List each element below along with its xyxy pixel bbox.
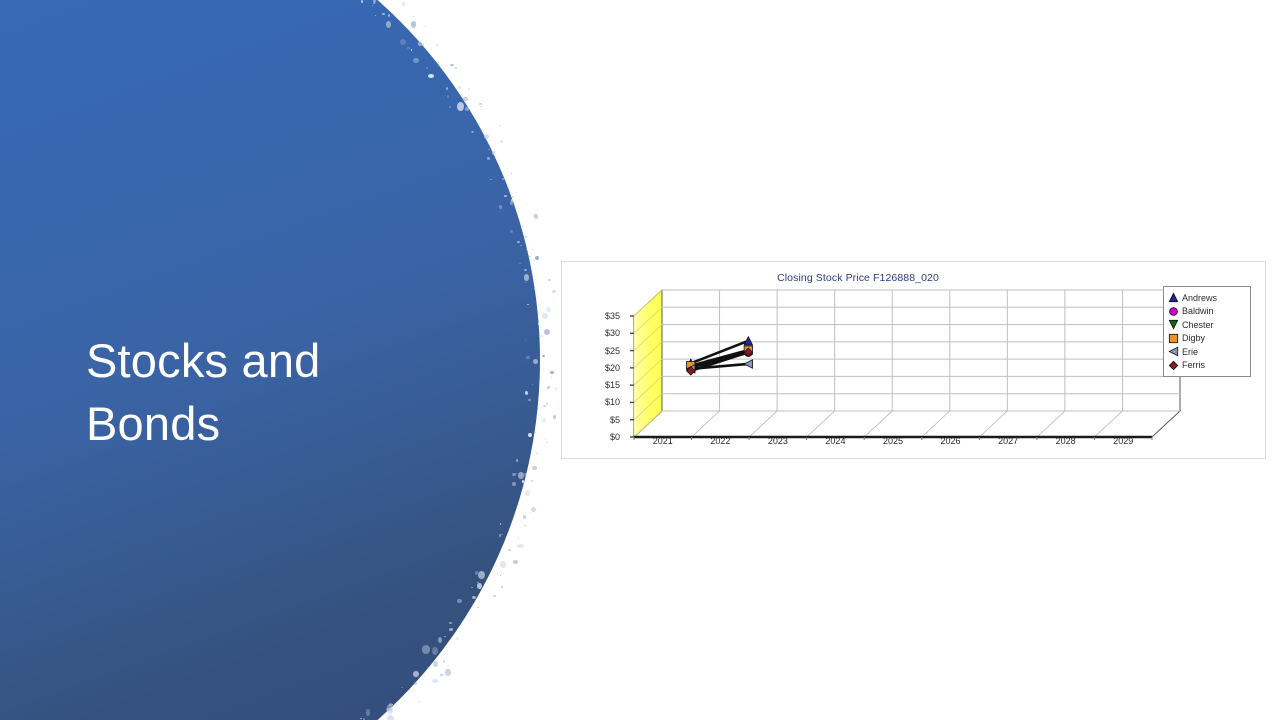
speckle-dot (477, 607, 478, 609)
speckle-dot (479, 103, 482, 105)
page-title: Stocks and Bonds (86, 330, 416, 455)
speckle-dot (529, 246, 531, 248)
x-axis-tick-label: 2021 (653, 436, 673, 446)
legend-item-label: Chester (1182, 320, 1214, 330)
legend-item-label: Ferris (1182, 360, 1205, 370)
y-axis-tick-label: $35 (605, 311, 620, 321)
speckle-dot (457, 599, 462, 603)
legend-item-baldwin[interactable]: Baldwin (1167, 305, 1246, 319)
speckle-dot (465, 107, 469, 111)
speckle-dot (551, 377, 552, 378)
speckle-dot (433, 661, 438, 667)
speckle-dot (500, 140, 503, 143)
speckle-dot (480, 106, 481, 107)
speckle-dot (530, 512, 531, 513)
speckle-dot (544, 438, 546, 440)
speckle-dot (541, 256, 542, 257)
speckle-dot (538, 323, 539, 325)
speckle-dot (455, 67, 457, 69)
speckle-dot (512, 473, 515, 476)
speckle-dot (502, 178, 504, 179)
legend-item-andrews[interactable]: Andrews (1167, 291, 1246, 305)
speckle-dot (484, 134, 489, 139)
x-axis-tick-labels: 202120222023202420252026202720282029 (562, 436, 1154, 452)
x-axis-tick-label: 2029 (1113, 436, 1133, 446)
speckle-dot (492, 151, 495, 155)
x-axis-tick-label: 2022 (710, 436, 730, 446)
speckle-dot (513, 560, 518, 564)
speckle-dot (511, 173, 512, 174)
speckle-dot (424, 676, 426, 678)
speckle-dot (535, 256, 539, 261)
speckle-dot (517, 537, 519, 539)
speckle-dot (504, 195, 507, 197)
speckle-dot (538, 313, 539, 314)
legend-marker-diamond-icon (1167, 359, 1180, 372)
legend-item-erie[interactable]: Erie (1167, 345, 1246, 359)
speckle-dot (519, 263, 521, 264)
speckle-dot (544, 329, 550, 336)
speckle-dot (468, 100, 469, 101)
legend-item-ferris[interactable]: Ferris (1167, 359, 1246, 373)
x-axis-tick-label: 2027 (998, 436, 1018, 446)
speckle-dot (422, 645, 430, 653)
speckle-dot (445, 669, 451, 676)
speckle-dot (540, 335, 543, 337)
legend-marker-square-icon (1167, 332, 1180, 345)
speckle-dot (510, 201, 513, 205)
legend-item-label: Erie (1182, 347, 1198, 357)
speckle-dot (525, 236, 527, 238)
speckle-dot (548, 279, 551, 281)
legend-item-label: Andrews (1182, 293, 1217, 303)
legend-marker-triangle-down-icon (1167, 318, 1180, 331)
speckle-dot (422, 43, 424, 46)
speckle-dot (413, 671, 419, 678)
speckle-dot (443, 660, 446, 663)
speckle-dot (537, 296, 539, 299)
speckle-dot (518, 472, 524, 478)
x-axis-tick-label: 2023 (768, 436, 788, 446)
speckle-dot (389, 703, 391, 705)
chart-object[interactable]: Closing Stock Price F126888_020 $0$5$10$… (561, 261, 1266, 459)
speckle-dot (531, 249, 532, 250)
speckle-dot (546, 307, 551, 313)
speckle-dot (495, 565, 497, 567)
speckle-dot (468, 88, 470, 90)
speckle-dot (536, 452, 538, 454)
speckle-dot (414, 682, 417, 685)
speckle-dot (501, 586, 504, 588)
speckle-dot (423, 25, 426, 27)
speckle-dot (456, 637, 459, 639)
speckle-dot (490, 179, 491, 180)
legend-item-label: Baldwin (1182, 306, 1214, 316)
speckle-dot (524, 525, 525, 526)
y-axis-tick-label: $20 (605, 363, 620, 373)
speckle-dot (512, 482, 516, 487)
speckle-dot (360, 718, 361, 719)
speckle-dot (523, 515, 527, 519)
speckle-dot (520, 245, 522, 246)
legend-item-chester[interactable]: Chester (1167, 318, 1246, 332)
speckle-dot (412, 16, 414, 17)
speckle-dot (543, 405, 545, 407)
speckle-dot (547, 386, 550, 389)
speckle-dot (534, 214, 538, 218)
speckle-dot (525, 340, 526, 342)
speckle-dot (457, 102, 464, 111)
legend-marker-triangle-left-icon (1167, 345, 1180, 358)
speckle-dot (555, 388, 557, 389)
speckle-dot (542, 313, 548, 320)
speckle-dot (497, 573, 498, 574)
speckle-dot (500, 561, 505, 568)
speckle-dot (417, 30, 419, 32)
speckle-dot (411, 21, 417, 28)
speckle-dot (432, 679, 439, 684)
legend-marker-circle-icon (1167, 305, 1180, 318)
plot-area: $0$5$10$15$20$25$30$35 20212022202320242… (562, 262, 1267, 460)
speckle-dot (402, 2, 404, 5)
speckle-dot (515, 192, 516, 193)
speckle-dot (372, 5, 373, 6)
speckle-dot (526, 356, 530, 359)
speckle-dot (512, 196, 514, 198)
speckle-dot (454, 643, 456, 645)
speckle-dot (472, 596, 476, 599)
speckle-dot (449, 628, 453, 631)
speckle-dot (413, 58, 419, 63)
speckle-dot (542, 355, 545, 357)
y-axis-tick-label: $30 (605, 328, 620, 338)
legend-item-digby[interactable]: Digby (1167, 332, 1246, 346)
speckle-dot (499, 125, 501, 127)
speckle-dot (468, 94, 469, 96)
speckle-dot (546, 442, 547, 443)
speckle-dot (516, 473, 518, 474)
y-axis-tick-label: $5 (610, 415, 620, 425)
x-axis-tick-label: 2025 (883, 436, 903, 446)
speckle-dot (536, 467, 537, 468)
speckle-dot (387, 715, 394, 720)
speckle-dot (393, 1, 394, 2)
speckle-dot (386, 21, 391, 28)
x-axis-tick-label: 2026 (941, 436, 961, 446)
speckle-dot (508, 549, 511, 551)
speckle-dot (487, 157, 489, 160)
speckle-dot (529, 256, 531, 258)
speckle-dot (552, 299, 553, 300)
chart-plot-svg (562, 262, 1267, 460)
speckle-dot (539, 456, 540, 457)
legend-item-label: Digby (1182, 333, 1205, 343)
legend-marker-triangle-up-icon (1167, 291, 1180, 304)
speckle-dot (440, 674, 443, 676)
speckle-dot (552, 290, 556, 293)
y-axis-tick-label: $10 (605, 397, 620, 407)
speckle-dot (450, 64, 453, 66)
speckle-dot (478, 571, 485, 579)
speckle-dot (366, 709, 371, 715)
speckle-dot (427, 667, 429, 669)
y-axis-tick-label: $25 (605, 346, 620, 356)
speckle-dot (458, 86, 462, 89)
speckle-dot (506, 553, 507, 554)
chart-legend[interactable]: AndrewsBaldwinChesterDigbyErieFerris (1163, 286, 1251, 377)
speckle-dot (531, 507, 536, 512)
speckle-dot (550, 371, 553, 374)
speckle-dot (525, 490, 530, 497)
speckle-dot (517, 241, 520, 243)
x-axis-tick-label: 2024 (825, 436, 845, 446)
speckle-dot (438, 62, 439, 63)
speckle-dot (500, 575, 501, 576)
speckle-dot (493, 595, 495, 597)
speckle-dot (447, 95, 450, 97)
speckle-dot (535, 432, 536, 433)
speckle-dot (534, 288, 536, 290)
speckle-dot (500, 523, 501, 525)
speckle-dot (446, 645, 447, 646)
speckle-dot (436, 44, 439, 46)
slide-canvas: Stocks and Bonds Closing Stock Price F12… (0, 0, 1280, 720)
speckle-dot (517, 544, 524, 548)
speckle-dot (418, 701, 420, 702)
speckle-dot (407, 47, 409, 49)
speckle-dot (534, 260, 535, 261)
speckle-dot (540, 327, 542, 328)
speckle-dot (501, 534, 503, 535)
speckle-dot (535, 279, 536, 280)
speckle-dot (387, 704, 394, 713)
y-axis-tick-labels: $0$5$10$15$20$25$30$35 (572, 288, 620, 448)
speckle-dot (531, 480, 533, 482)
speckle-dot (546, 402, 548, 404)
speckle-dot (542, 418, 546, 423)
x-axis-tick-label: 2028 (1056, 436, 1076, 446)
speckle-dot (527, 189, 528, 190)
speckle-dot (525, 204, 526, 205)
speckle-dot (553, 415, 557, 419)
speckle-dot (524, 473, 527, 476)
speckle-dot (432, 647, 438, 654)
speckle-dot (524, 269, 526, 271)
speckle-dot (435, 59, 436, 60)
speckle-dot (522, 225, 524, 226)
speckle-dot (418, 42, 422, 45)
speckle-dot (528, 433, 532, 438)
y-axis-tick-label: $15 (605, 380, 620, 390)
speckle-dot (477, 582, 478, 583)
speckle-dot (533, 359, 537, 364)
